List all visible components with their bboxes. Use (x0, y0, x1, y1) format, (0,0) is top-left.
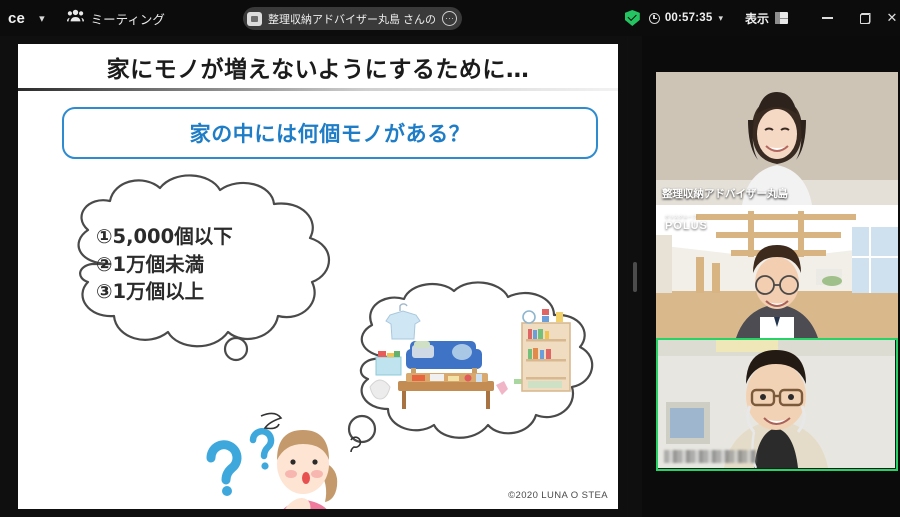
screen-share-chip[interactable]: 整理収納アドバイザー丸島 さんの (243, 7, 462, 30)
minimize-button[interactable] (808, 0, 846, 36)
more-options-icon[interactable] (442, 11, 457, 26)
answer-options: ①5,000個以下 ②1万個未満 ③1万個以上 (96, 223, 346, 306)
view-button[interactable]: 表示 (745, 10, 788, 27)
topbar-left-group: ce ▾ ミーティング (0, 0, 173, 36)
slide-title: 家にモノが増えないようにするために… (18, 50, 618, 84)
question-box-text: 家の中には何個モノがある？ (190, 118, 471, 148)
participant-video-3 (658, 340, 895, 468)
shared-screen-stage[interactable]: 家にモノが増えないようにするために… 家の中には何個モノがある？ ①5,000個… (0, 36, 627, 517)
people-icon (67, 9, 84, 27)
participant-rail: 整理収納アドバイザー丸島 (642, 36, 900, 517)
window-controls: ✕ (808, 0, 900, 36)
answer-option-2: ②1万個未満 (96, 251, 346, 279)
close-button[interactable]: ✕ (884, 0, 900, 36)
chevron-down-icon[interactable]: ▾ (29, 12, 59, 25)
virtual-background-logo: ポラスグループ POLUS (665, 214, 708, 232)
slide-copyright: ©2020 LUNA O STEA (508, 490, 608, 501)
question-box: 家の中には何個モノがある？ (62, 107, 598, 159)
blurred-overlay (664, 450, 756, 463)
screen-share-chip-label: 整理収納アドバイザー丸島 さんの (268, 11, 436, 27)
participant-tile-2[interactable]: ポラスグループ POLUS (656, 205, 898, 338)
view-button-label: 表示 (745, 10, 769, 27)
meeting-timer[interactable]: 00:57:35 ▾ (649, 12, 723, 24)
topbar-right-group: 00:57:35 ▾ 表示 ✕ (625, 0, 900, 36)
panel-resize-handle[interactable] (628, 36, 642, 517)
answer-option-1: ①5,000個以下 (96, 223, 346, 251)
layout-icon (775, 12, 788, 24)
screen-share-icon (247, 12, 262, 26)
participant-name-1: 整理収納アドバイザー丸島 (662, 186, 788, 201)
shield-check-icon[interactable] (625, 10, 640, 26)
restore-button[interactable] (846, 0, 884, 36)
thought-bubble-right (336, 279, 606, 464)
minimize-icon (822, 17, 833, 19)
chevron-down-icon[interactable]: ▾ (718, 13, 723, 24)
participant-tile-3[interactable] (656, 338, 898, 471)
restore-icon (860, 13, 871, 24)
title-divider (18, 88, 618, 91)
presentation-slide: 家にモノが増えないようにするために… 家の中には何個モノがある？ ①5,000個… (18, 44, 618, 509)
meeting-tab-label: ミーティング (91, 9, 165, 28)
resize-grip-icon (633, 262, 637, 292)
participant-tile-1[interactable]: 整理収納アドバイザー丸島 (656, 72, 898, 205)
meeting-window: ce ▾ ミーティング 整理収納アドバイザー丸島 さんの (0, 0, 900, 517)
account-label[interactable]: ce (4, 10, 29, 27)
meeting-timer-value: 00:57:35 (665, 12, 713, 24)
close-icon: ✕ (887, 10, 898, 26)
answer-option-3: ③1万個以上 (96, 278, 346, 306)
clock-icon (649, 13, 660, 24)
window-top-bar: ce ▾ ミーティング 整理収納アドバイザー丸島 さんの (0, 0, 900, 36)
meeting-tab[interactable]: ミーティング (59, 9, 173, 28)
thinking-girl-illustration (203, 412, 363, 509)
